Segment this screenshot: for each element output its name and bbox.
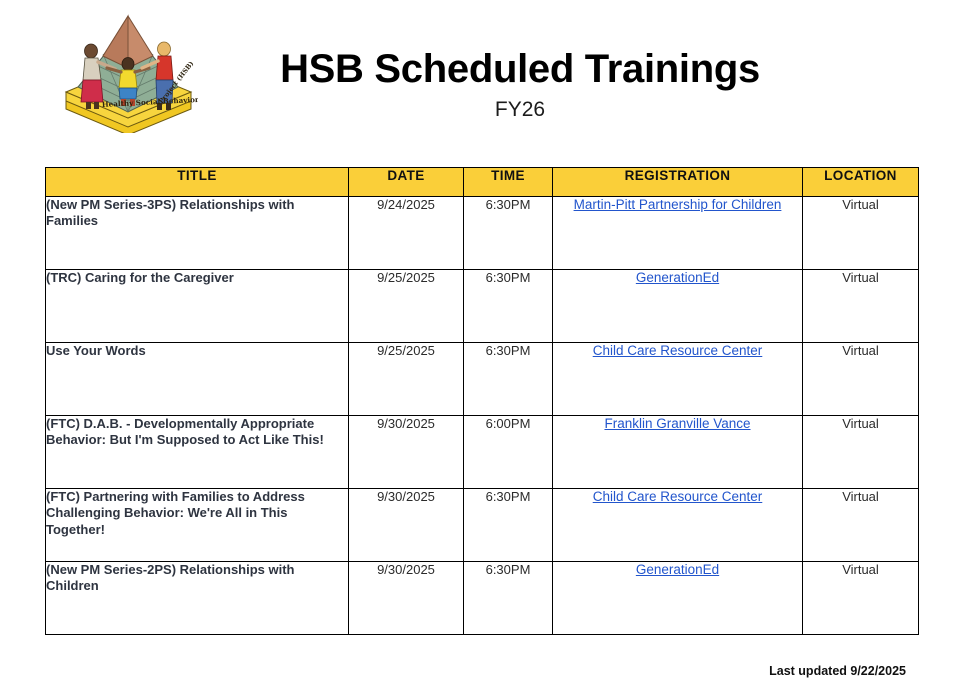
table-body: (New PM Series-3PS) Relationships with F… (46, 197, 919, 635)
cell-title: (TRC) Caring for the Caregiver (46, 270, 349, 343)
table-row: (TRC) Caring for the Caregiver 9/25/2025… (46, 270, 919, 343)
cell-registration: GenerationEd (553, 270, 803, 343)
cell-title: (New PM Series-3PS) Relationships with F… (46, 197, 349, 270)
cell-date: 9/24/2025 (349, 197, 464, 270)
cell-registration: Child Care Resource Center (553, 489, 803, 562)
cell-time: 6:30PM (464, 489, 553, 562)
registration-link[interactable]: GenerationEd (636, 270, 719, 285)
hsb-pyramid-logo: Healthy Social Behaviors Project (HSB) (58, 8, 198, 133)
cell-registration: GenerationEd (553, 562, 803, 635)
page-header: Healthy Social Behaviors Project (HSB) H… (0, 0, 969, 150)
cell-title: (New PM Series-2PS) Relationships with C… (46, 562, 349, 635)
registration-link[interactable]: GenerationEd (636, 562, 719, 577)
cell-location: Virtual (803, 416, 919, 489)
cell-registration: Franklin Granville Vance (553, 416, 803, 489)
table-header: TITLE DATE TIME REGISTRATION LOCATION (46, 168, 919, 197)
cell-time: 6:30PM (464, 270, 553, 343)
cell-location: Virtual (803, 343, 919, 416)
column-header-registration: REGISTRATION (553, 168, 803, 197)
column-header-date: DATE (349, 168, 464, 197)
column-header-time: TIME (464, 168, 553, 197)
table-row: (New PM Series-2PS) Relationships with C… (46, 562, 919, 635)
cell-location: Virtual (803, 197, 919, 270)
cell-location: Virtual (803, 270, 919, 343)
cell-location: Virtual (803, 562, 919, 635)
cell-time: 6:30PM (464, 343, 553, 416)
trainings-table-wrap: TITLE DATE TIME REGISTRATION LOCATION (N… (45, 167, 918, 635)
column-header-location: LOCATION (803, 168, 919, 197)
cell-registration: Martin-Pitt Partnership for Children (553, 197, 803, 270)
cell-date: 9/30/2025 (349, 416, 464, 489)
table-row: (New PM Series-3PS) Relationships with F… (46, 197, 919, 270)
cell-time: 6:30PM (464, 562, 553, 635)
cell-title: Use Your Words (46, 343, 349, 416)
cell-title: (FTC) Partnering with Families to Addres… (46, 489, 349, 562)
table-header-row: TITLE DATE TIME REGISTRATION LOCATION (46, 168, 919, 197)
cell-date: 9/25/2025 (349, 270, 464, 343)
registration-link[interactable]: Child Care Resource Center (593, 343, 763, 358)
hsb-pyramid-logo-svg: Healthy Social Behaviors Project (HSB) (58, 8, 198, 133)
registration-link[interactable]: Franklin Granville Vance (604, 416, 750, 431)
cell-time: 6:00PM (464, 416, 553, 489)
registration-link[interactable]: Martin-Pitt Partnership for Children (574, 197, 782, 212)
trainings-table: TITLE DATE TIME REGISTRATION LOCATION (N… (45, 167, 919, 635)
cell-date: 9/25/2025 (349, 343, 464, 416)
column-header-title: TITLE (46, 168, 349, 197)
cell-location: Virtual (803, 489, 919, 562)
cell-date: 9/30/2025 (349, 562, 464, 635)
page-subtitle: FY26 (210, 98, 830, 122)
page-title: HSB Scheduled Trainings (210, 48, 830, 90)
title-block: HSB Scheduled Trainings FY26 (210, 48, 830, 122)
last-updated-label: Last updated 9/22/2025 (769, 664, 906, 678)
table-row: Use Your Words 9/25/2025 6:30PM Child Ca… (46, 343, 919, 416)
cell-registration: Child Care Resource Center (553, 343, 803, 416)
registration-link[interactable]: Child Care Resource Center (593, 489, 763, 504)
table-row: (FTC) Partnering with Families to Addres… (46, 489, 919, 562)
cell-time: 6:30PM (464, 197, 553, 270)
table-row: (FTC) D.A.B. - Developmentally Appropria… (46, 416, 919, 489)
cell-title: (FTC) D.A.B. - Developmentally Appropria… (46, 416, 349, 489)
cell-date: 9/30/2025 (349, 489, 464, 562)
